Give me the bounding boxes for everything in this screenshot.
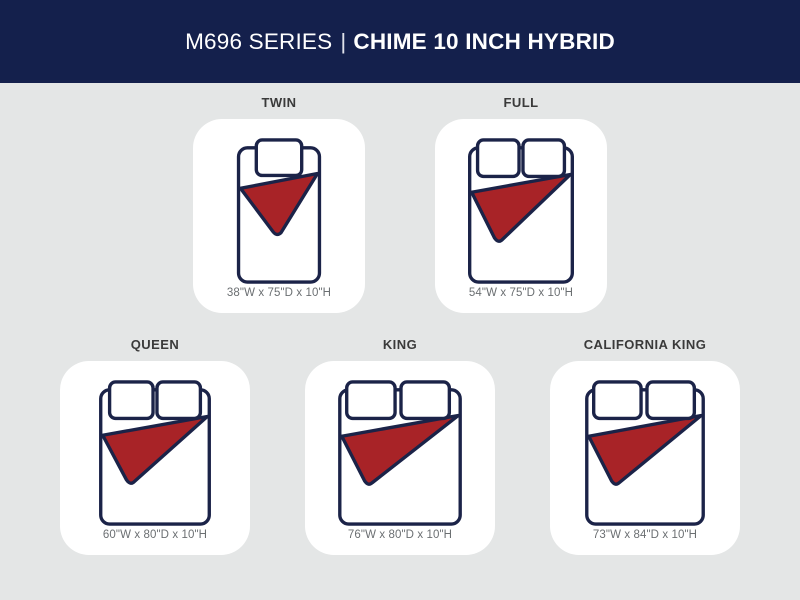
size-title-california-king: CALIFORNIA KING: [584, 337, 707, 352]
size-dimensions-queen: 60"W x 80"D x 10"H: [103, 529, 207, 541]
size-title-queen: QUEEN: [131, 337, 179, 352]
bed-icon: [571, 379, 719, 529]
size-dimensions-king: 76"W x 80"D x 10"H: [348, 529, 452, 541]
size-title-full: FULL: [503, 95, 538, 110]
size-card-queen[interactable]: 60"W x 80"D x 10"H: [60, 361, 250, 555]
size-cell-california-king[interactable]: CALIFORNIA KING 73"W x 84"D x 10"H: [550, 337, 740, 555]
size-card-twin[interactable]: 38"W x 75"D x 10"H: [193, 119, 365, 313]
header-bar: M696 SERIES | CHIME 10 INCH HYBRID: [0, 0, 800, 83]
size-card-king[interactable]: 76"W x 80"D x 10"H: [305, 361, 495, 555]
size-row-bottom: QUEEN 60"W x 80"D x 10"H KING: [0, 337, 800, 555]
size-dimensions-california-king: 73"W x 84"D x 10"H: [593, 529, 697, 541]
page-title: M696 SERIES | CHIME 10 INCH HYBRID: [185, 29, 615, 55]
bed-icon: [326, 379, 474, 529]
size-card-full[interactable]: 54"W x 75"D x 10"H: [435, 119, 607, 313]
size-card-california-king[interactable]: 73"W x 84"D x 10"H: [550, 361, 740, 555]
size-cell-twin[interactable]: TWIN 38"W x 75"D x 10"H: [193, 95, 365, 313]
bed-icon: [85, 379, 225, 529]
model-label: CHIME 10 INCH HYBRID: [353, 29, 615, 55]
bed-icon: [456, 137, 586, 287]
size-dimensions-twin: 38"W x 75"D x 10"H: [227, 287, 331, 299]
size-chart-page: M696 SERIES | CHIME 10 INCH HYBRID TWIN …: [0, 0, 800, 600]
series-label: M696 SERIES: [185, 29, 332, 55]
bed-icon: [223, 137, 335, 287]
size-title-twin: TWIN: [261, 95, 296, 110]
size-cell-queen[interactable]: QUEEN 60"W x 80"D x 10"H: [60, 337, 250, 555]
size-cell-king[interactable]: KING 76"W x 80"D x 10"H: [305, 337, 495, 555]
title-separator: |: [340, 29, 346, 55]
size-row-top: TWIN 38"W x 75"D x 10"H FULL: [0, 95, 800, 313]
size-cell-full[interactable]: FULL 54"W x 75"D x 10"H: [435, 95, 607, 313]
size-dimensions-full: 54"W x 75"D x 10"H: [469, 287, 573, 299]
size-title-king: KING: [383, 337, 417, 352]
